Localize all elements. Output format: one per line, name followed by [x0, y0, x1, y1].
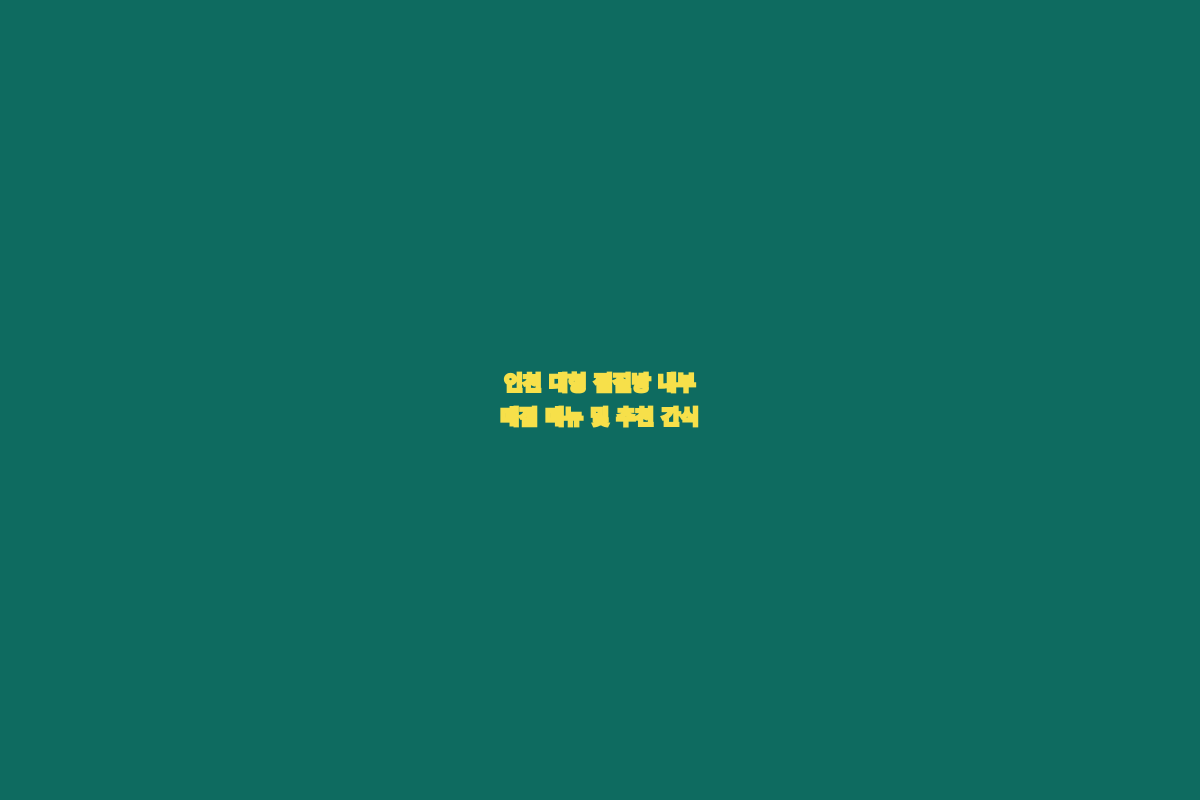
title-line-2: 매점 메뉴 및 추천 간식 — [60, 405, 1140, 429]
title-line-1: 인천 대형 찜질방 내부 — [60, 371, 1140, 395]
banner-canvas: 인천 대형 찜질방 내부 매점 메뉴 및 추천 간식 — [0, 0, 1200, 800]
page-title: 인천 대형 찜질방 내부 매점 메뉴 및 추천 간식 — [0, 371, 1200, 430]
